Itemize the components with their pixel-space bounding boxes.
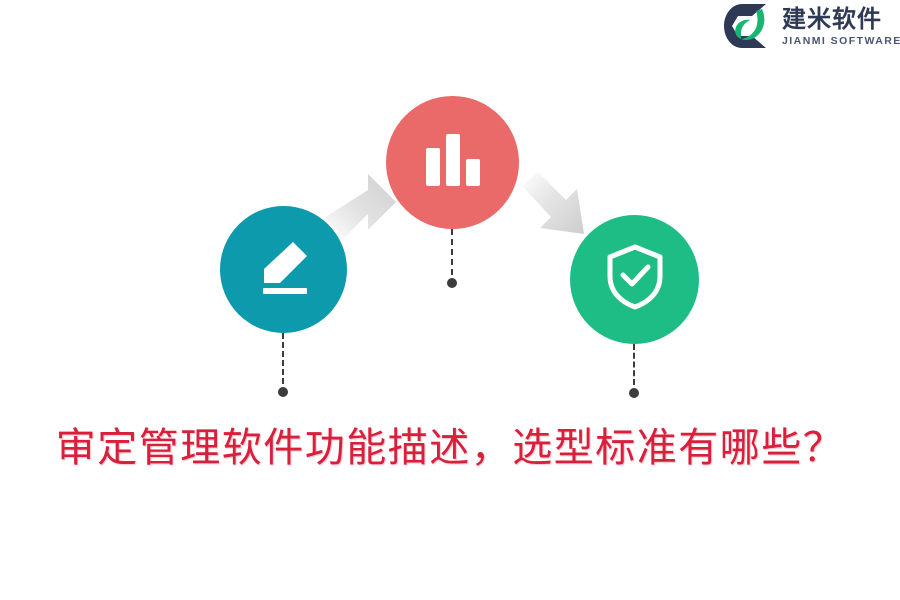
- connector-dot-edit: [278, 387, 288, 397]
- jianmi-leaf-logo-icon: [722, 2, 774, 50]
- flow-node-chart[interactable]: [386, 96, 519, 229]
- pencil-edit-icon: [252, 235, 316, 304]
- brand-name-en: JIANMI SOFTWARE: [782, 36, 900, 47]
- flow-node-shield[interactable]: [570, 215, 699, 344]
- brand-text: 建米软件 JIANMI SOFTWARE: [782, 6, 900, 47]
- connector-edit: [282, 333, 286, 384]
- connector-dot-chart: [447, 278, 457, 288]
- page-title: 审定管理软件功能描述，选型标准有哪些？: [0, 415, 900, 473]
- flow-node-edit[interactable]: [220, 206, 347, 333]
- shield-check-icon: [604, 243, 666, 316]
- slide-canvas: 建米软件 JIANMI SOFTWARE: [0, 0, 900, 600]
- connector-dot-shield: [629, 388, 639, 398]
- brand-name-cn: 建米软件: [782, 7, 900, 31]
- brand-logo[interactable]: 建米软件 JIANMI SOFTWARE: [722, 0, 900, 52]
- connector-shield: [633, 344, 637, 385]
- connector-chart: [451, 229, 455, 275]
- bar-chart-icon: [423, 131, 483, 194]
